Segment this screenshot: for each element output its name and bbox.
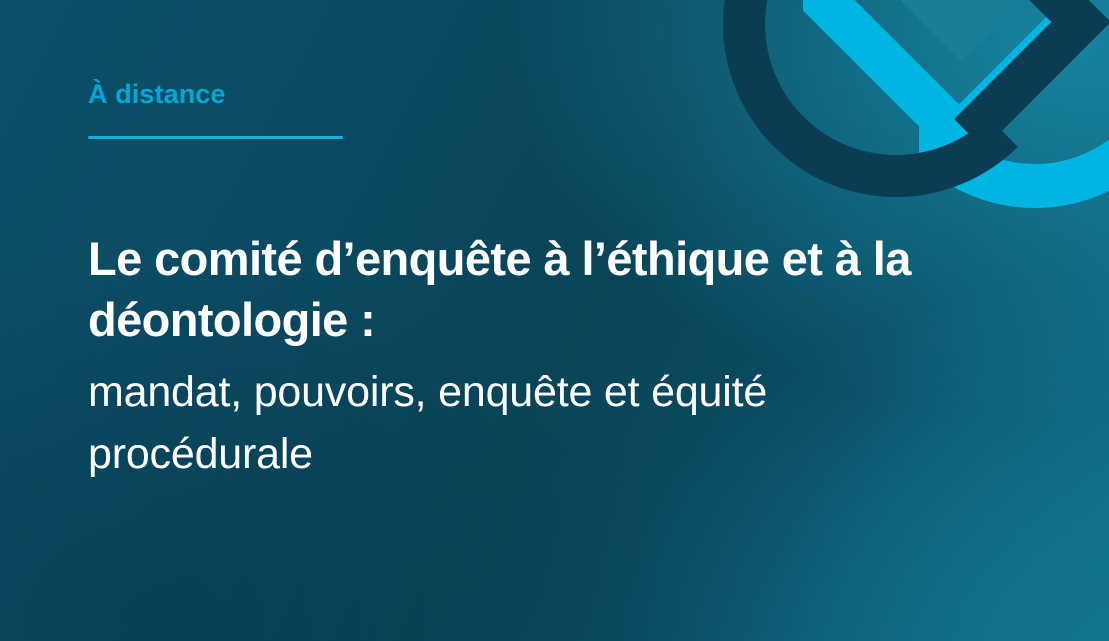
page-subtitle: mandat, pouvoirs, enquête et équité proc… — [88, 362, 968, 486]
eyebrow-underline — [88, 136, 343, 139]
eyebrow-block: À distance — [88, 80, 343, 139]
promo-slide: À distance Le comité d’enquête à l’éthiq… — [0, 0, 1109, 641]
delivery-mode-label: À distance — [88, 80, 343, 110]
slide-content: À distance Le comité d’enquête à l’éthiq… — [88, 0, 1028, 641]
heading-block: Le comité d’enquête à l’éthique et à la … — [88, 228, 1028, 486]
page-title: Le comité d’enquête à l’éthique et à la … — [88, 228, 1023, 350]
